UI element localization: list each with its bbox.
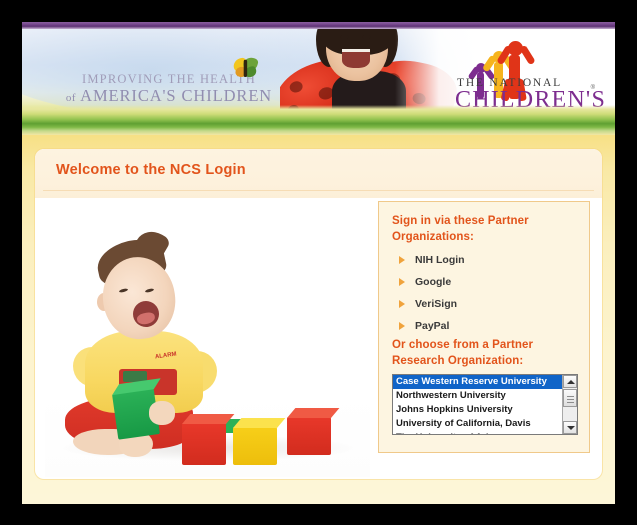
- registered-trademark-icon: ®: [591, 85, 595, 91]
- partner-option-label: Google: [415, 276, 451, 288]
- scroll-up-button[interactable]: [563, 375, 577, 388]
- scrollbar-grip: [567, 399, 574, 400]
- block-top-face: [287, 408, 339, 418]
- partner-organizations-list: NIH Login Google VeriSign PayPal: [392, 249, 578, 337]
- partner-organizations-heading: Sign in via these Partner Organizations:: [392, 214, 574, 245]
- scroll-down-button[interactable]: [563, 421, 577, 434]
- triangle-bullet-icon: [399, 278, 405, 286]
- partner-option-label: NIH Login: [415, 254, 465, 266]
- wing-spot: [288, 80, 304, 94]
- girl-smile: [342, 49, 370, 68]
- banner-grass-strip: [22, 105, 615, 135]
- chevron-up-icon: [567, 380, 575, 384]
- purple-top-strip: [22, 22, 615, 29]
- partner-option-paypal[interactable]: PayPal: [392, 315, 578, 337]
- page-body: Welcome to the NCS Login FIRE ALARM: [22, 135, 615, 504]
- banner-headline-line-2: of AMERICA'S CHILDREN: [39, 87, 299, 105]
- organization-option[interactable]: The University of Arizona: [393, 431, 563, 435]
- triangle-bullet-icon: [399, 322, 405, 330]
- partner-option-google[interactable]: Google: [392, 271, 578, 293]
- organization-option-list[interactable]: Case Western Reserve University Northwes…: [393, 375, 563, 435]
- toy-block-yellow: [233, 427, 277, 465]
- research-organizations-heading: Or choose from a Partner Research Organi…: [392, 338, 582, 369]
- triangle-bullet-icon: [399, 300, 405, 308]
- partner-option-nih-login[interactable]: NIH Login: [392, 249, 578, 271]
- site-banner: IMPROVING THE HEALTH of AMERICA'S CHILDR…: [22, 29, 615, 135]
- block-top-face: [233, 418, 285, 428]
- scrollbar-grip: [567, 402, 574, 403]
- banner-headline-of: of: [66, 92, 76, 104]
- banner-headline-main: AMERICA'S CHILDREN: [80, 86, 272, 105]
- baby-photo: FIRE ALARM: [45, 201, 370, 477]
- signin-panel: Sign in via these Partner Organizations:…: [378, 201, 590, 453]
- toy-block-red-1: [182, 423, 226, 465]
- butterfly-body: [244, 60, 247, 77]
- listbox-scrollbar[interactable]: [562, 375, 577, 434]
- girl-eye-left: [340, 35, 349, 39]
- header-divider: [43, 190, 594, 191]
- organization-option[interactable]: University of California, Davis: [393, 417, 563, 431]
- partner-option-label: PayPal: [415, 320, 449, 332]
- partner-option-label: VeriSign: [415, 298, 457, 310]
- toy-block-red-2: [287, 417, 331, 455]
- butterfly-icon: [232, 58, 260, 81]
- scrollbar-grip: [567, 396, 574, 397]
- chevron-down-icon: [567, 426, 575, 430]
- baby-hand: [149, 401, 175, 425]
- screenshot-root: IMPROVING THE HEALTH of AMERICA'S CHILDR…: [0, 0, 637, 525]
- organization-option[interactable]: Case Western Reserve University: [393, 375, 563, 389]
- triangle-bullet-icon: [399, 256, 405, 264]
- banner-headline-line-1: IMPROVING THE HEALTH: [39, 73, 299, 86]
- organization-option[interactable]: Northwestern University: [393, 389, 563, 403]
- organization-option[interactable]: Johns Hopkins University: [393, 403, 563, 417]
- welcome-header-band: Welcome to the NCS Login: [35, 149, 602, 198]
- girl-eye-right: [362, 35, 371, 39]
- block-top-face: [182, 414, 234, 424]
- figure-arm-right: [519, 45, 536, 66]
- login-content-panel: Welcome to the NCS Login FIRE ALARM: [35, 149, 602, 479]
- page-title: Welcome to the NCS Login: [56, 162, 246, 178]
- banner-headline: IMPROVING THE HEALTH of AMERICA'S CHILDR…: [39, 73, 299, 105]
- scrollbar-thumb[interactable]: [563, 389, 577, 407]
- page-canvas: IMPROVING THE HEALTH of AMERICA'S CHILDR…: [22, 22, 615, 504]
- partner-option-verisign[interactable]: VeriSign: [392, 293, 578, 315]
- organization-listbox[interactable]: Case Western Reserve University Northwes…: [392, 374, 578, 435]
